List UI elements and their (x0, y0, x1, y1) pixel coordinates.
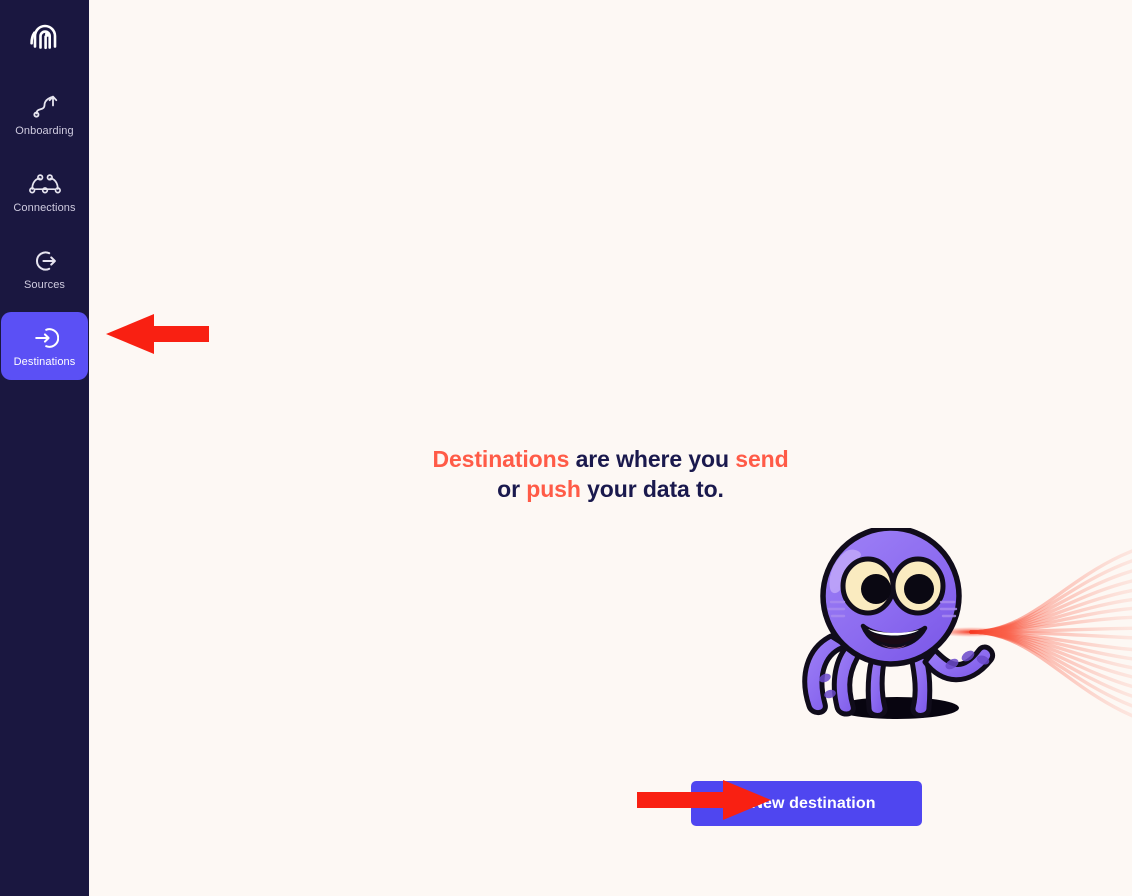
source-arrow-out-icon (31, 246, 59, 276)
sidebar-item-destinations[interactable]: Destinations (1, 312, 88, 380)
main-content: Destinations are where you send or push … (89, 0, 1132, 896)
page-title: Destinations are where you send or push … (89, 444, 1132, 504)
headline-or: or (497, 476, 526, 502)
headline-send: send (735, 446, 788, 472)
sidebar-item-onboarding[interactable]: Onboarding (1, 81, 88, 149)
sidebar-item-connections[interactable]: Connections (1, 158, 88, 226)
sidebar: Onboarding (0, 0, 89, 896)
connections-nodes-icon (28, 169, 62, 199)
onboarding-path-icon (31, 92, 59, 122)
purple-octopus-mascot-with-data-rays (649, 528, 1132, 743)
airbyte-octopus-logo-icon[interactable] (21, 13, 69, 61)
destinations-empty-state: Destinations are where you send or push … (89, 0, 1132, 896)
headline-destinations: Destinations (432, 446, 569, 472)
illustration-wrapper (89, 528, 1132, 743)
app-root: Onboarding (0, 0, 1132, 896)
sidebar-item-label: Onboarding (15, 125, 74, 138)
sidebar-item-label: Connections (13, 202, 75, 215)
new-destination-button[interactable]: + New destination (691, 781, 922, 826)
sidebar-item-label: Sources (24, 279, 65, 292)
headline-mid-1: are where you (569, 446, 735, 472)
destination-arrow-in-icon (31, 323, 59, 353)
sidebar-item-label: Destinations (14, 356, 76, 369)
headline-tail: your data to. (581, 476, 724, 502)
sidebar-item-sources[interactable]: Sources (1, 235, 88, 303)
sidebar-nav: Onboarding (0, 81, 89, 389)
headline-push: push (526, 476, 581, 502)
